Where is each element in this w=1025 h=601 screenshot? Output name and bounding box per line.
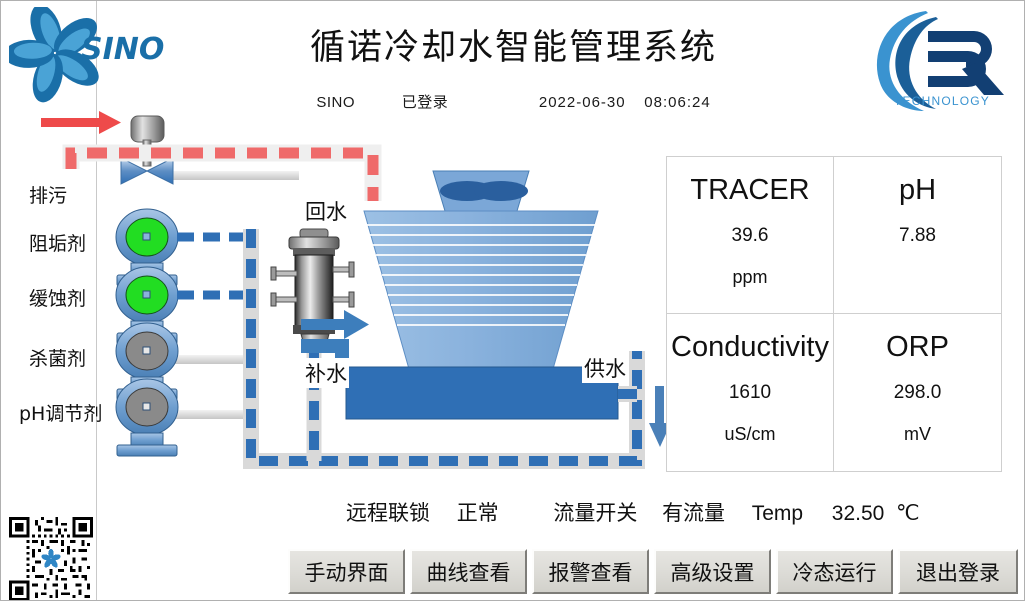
measurement-cell-tracer[interactable]: TRACER 39.6 ppm [667,157,834,314]
current-time: 08:06:24 [644,94,710,111]
logout-button[interactable]: 退出登录 [898,549,1018,594]
tower-basin [346,367,618,419]
measurement-cell-ph[interactable]: pH 7.88 [834,157,1001,314]
measurement-value: 298.0 [894,382,942,404]
measurement-name: Conductivity [671,332,829,362]
tower-fan-blade-right [474,181,528,201]
measurement-name: TRACER [690,175,809,205]
temperature-unit: ℃ [896,501,920,526]
flow-label-makeup-water: 补水 [303,358,349,388]
qr-code[interactable] [9,517,93,601]
current-date: 2022-06-30 [539,94,626,111]
dosing-pump-ph-adjuster[interactable] [116,379,178,456]
process-flow-diagram [1,111,666,486]
3r-technology-logo: TECHNOLOGY [866,3,1018,115]
flow-label-return-water: 回水 [303,196,349,226]
pipe-blowdown-idle [169,171,299,180]
temperature-label: Temp [752,502,803,526]
curve-view-button[interactable]: 曲线查看 [410,549,527,594]
measurement-panel: TRACER 39.6 ppm pH 7.88 Conductivity 161… [666,156,1002,472]
advanced-settings-button[interactable]: 高级设置 [654,549,771,594]
measurement-value: 7.88 [899,225,936,247]
measurement-name: ORP [886,332,949,362]
measurement-cell-orp[interactable]: ORP 298.0 mV [834,314,1001,471]
measurement-unit: mV [904,424,931,445]
temperature-value: 32.50 [832,502,885,526]
scada-screen: SINO 循诺冷却水智能管理系统 SINO 已登录 2022-06-30 08:… [0,0,1025,601]
measurement-value: 1610 [729,382,771,404]
action-button-bar: 手动界面 曲线查看 报警查看 高级设置 冷态运行 退出登录 [288,549,1018,594]
measurement-value: 39.6 [732,225,769,247]
pipe-ph-idle [169,410,249,419]
status-bar: 远程联锁 正常 流量开关 有流量 Temp 32.50 ℃ [346,497,1006,527]
measurement-cell-conductivity[interactable]: Conductivity 1610 uS/cm [667,314,834,471]
supply-flow-arrow [649,386,666,447]
flow-label-supply-water: 供水 [582,353,628,383]
3r-logo-subtext: TECHNOLOGY [894,94,990,108]
flow-switch-value: 有流量 [662,497,725,527]
heat-exchanger-vessel [271,229,354,349]
user-name: SINO [316,94,355,111]
measurement-unit: ppm [732,267,767,288]
remote-interlock-value: 正常 [457,497,499,527]
measurement-name: pH [899,175,936,205]
alarm-view-button[interactable]: 报警查看 [532,549,649,594]
measurement-unit: uS/cm [724,424,775,445]
cold-start-run-button[interactable]: 冷态运行 [776,549,893,594]
flow-switch-label: 流量开关 [553,497,637,527]
remote-interlock-label: 远程联锁 [346,497,430,527]
manual-interface-button[interactable]: 手动界面 [288,549,405,594]
return-flow-arrow [41,111,121,134]
pipe-biocide-idle [169,355,249,364]
login-status: 已登录 [402,91,449,112]
